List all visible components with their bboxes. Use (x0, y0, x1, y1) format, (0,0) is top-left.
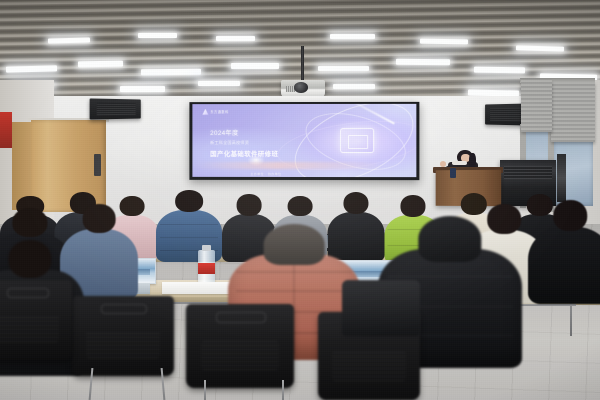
ceiling-light (318, 66, 369, 72)
attendee-head (175, 190, 203, 212)
chair (0, 280, 72, 360)
attendee-head (288, 196, 313, 216)
roller-blind[interactable] (521, 80, 552, 132)
attendee-head (400, 195, 425, 217)
slide-chip-graphic (340, 128, 374, 153)
lecture-hall-photo: 东方通数科 2024年度 新工科全国高校师资 国产化基础软件研修班 主办单位 ·… (0, 0, 600, 400)
chair-leg (204, 380, 206, 400)
ceiling-light (330, 34, 375, 39)
attendee-body (528, 227, 600, 304)
chair-leg (282, 380, 284, 400)
slide-subtitle: 新工科全国高校师资 (210, 140, 322, 146)
wall-speaker-left (89, 99, 140, 120)
attendee-head (8, 240, 51, 278)
speaker-grill (96, 103, 135, 116)
attendee-head (83, 204, 116, 233)
ceiling-light (120, 86, 165, 91)
ceiling-light (231, 63, 279, 69)
projector-lens (294, 82, 308, 92)
bottle-cap (202, 245, 211, 251)
chair (186, 304, 294, 388)
presenter-scarf (452, 161, 466, 165)
slide-warm-band (192, 162, 416, 169)
desk-leg (570, 300, 572, 336)
slide-year: 2024年度 (210, 128, 322, 137)
door-handle-icon[interactable] (94, 154, 101, 176)
ceiling-light (198, 81, 240, 86)
ceiling-light (216, 36, 255, 41)
slide-main-title: 国产化基础软件研修班 (210, 149, 322, 158)
microphone-icon (450, 168, 456, 178)
attendee-hood (264, 224, 325, 265)
chair-back-ribs (201, 341, 279, 370)
handout (162, 282, 234, 294)
attendee-head (343, 192, 368, 214)
speaker-grill (490, 107, 523, 121)
ceiling-light (6, 65, 57, 72)
ceiling-light (474, 67, 525, 74)
bottle-label (198, 263, 215, 275)
backpack (342, 280, 420, 336)
ceiling-light (141, 68, 201, 75)
chair-back-ribs (0, 315, 59, 342)
attendee (528, 200, 600, 304)
attendee-head (12, 208, 47, 237)
wall-banner (0, 112, 12, 148)
ceiling-light (333, 84, 375, 89)
attendee-head (237, 194, 262, 216)
ceiling-light (396, 59, 450, 65)
projector-mount-pole (301, 46, 304, 82)
projection-screen: 东方通数科 2024年度 新工科全国高校师资 国产化基础软件研修班 主办单位 ·… (189, 102, 419, 180)
ceiling-light (78, 60, 123, 66)
attendee-hood (418, 216, 481, 262)
ceiling-light (468, 89, 519, 96)
slide-logo-text: 东方通数科 (210, 109, 228, 114)
slide-title-block: 2024年度 新工科全国高校师资 国产化基础软件研修班 (210, 128, 322, 158)
puffer-seam (387, 276, 514, 277)
slide-surface: 东方通数科 2024年度 新工科全国高校师资 国产化基础软件研修班 主办单位 ·… (192, 104, 416, 178)
water-bottle (198, 250, 215, 284)
slide-logo: 东方通数科 (202, 109, 228, 115)
puffer-seam (160, 224, 218, 225)
slide-footer: 主办单位 · 协办单位 (250, 172, 281, 176)
puffer-seam (160, 237, 218, 238)
chair-back-ribs (332, 351, 405, 381)
chair (72, 296, 174, 376)
logo-mark-icon (202, 109, 208, 115)
attendee-head (553, 200, 587, 231)
ceiling-light (138, 33, 177, 38)
chair-back-ribs (86, 331, 159, 358)
roller-blind[interactable] (551, 82, 595, 142)
